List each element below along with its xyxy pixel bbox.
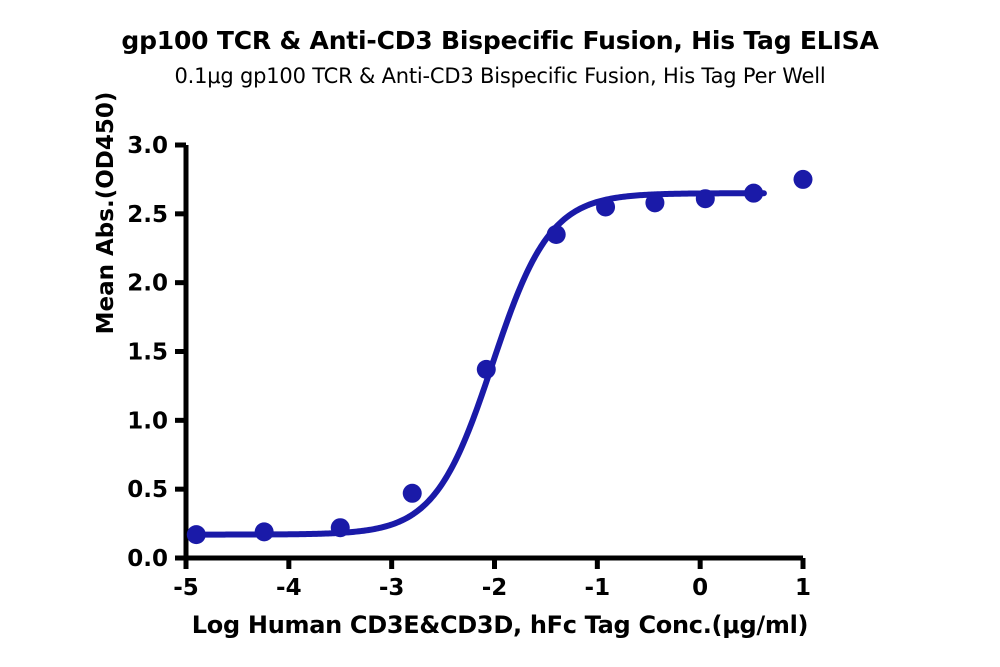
x-axis-ticks: -5-4-3-2-101: [173, 558, 811, 601]
y-tick-label: 0.5: [127, 477, 168, 503]
data-point: [794, 170, 813, 189]
y-tick-label: 1.0: [127, 408, 168, 434]
data-point: [331, 518, 350, 537]
data-point: [596, 197, 615, 216]
y-axis-ticks: 0.00.51.01.52.02.53.0: [127, 133, 186, 572]
data-point: [477, 360, 496, 379]
y-tick-label: 2.5: [127, 202, 168, 228]
data-points: [187, 170, 813, 544]
data-point: [403, 484, 422, 503]
data-point: [255, 522, 274, 541]
x-tick-label: -5: [173, 575, 199, 601]
data-point: [744, 184, 763, 203]
x-tick-label: -3: [379, 575, 405, 601]
x-tick-label: -1: [585, 575, 611, 601]
data-point: [645, 193, 664, 212]
y-tick-label: 0.0: [127, 546, 168, 572]
y-tick-label: 2.0: [127, 271, 168, 297]
data-point: [547, 225, 566, 244]
x-tick-label: -4: [276, 575, 302, 601]
x-tick-label: -2: [482, 575, 508, 601]
x-tick-label: 0: [692, 575, 708, 601]
x-tick-label: 1: [795, 575, 811, 601]
y-tick-label: 3.0: [127, 133, 168, 159]
elisa-chart-figure: gp100 TCR & Anti-CD3 Bispecific Fusion, …: [0, 0, 1000, 667]
data-point: [187, 525, 206, 544]
data-point: [696, 189, 715, 208]
y-tick-label: 1.5: [127, 340, 168, 366]
plot-area: 0.00.51.01.52.02.53.0 -5-4-3-2-101: [0, 0, 1000, 667]
